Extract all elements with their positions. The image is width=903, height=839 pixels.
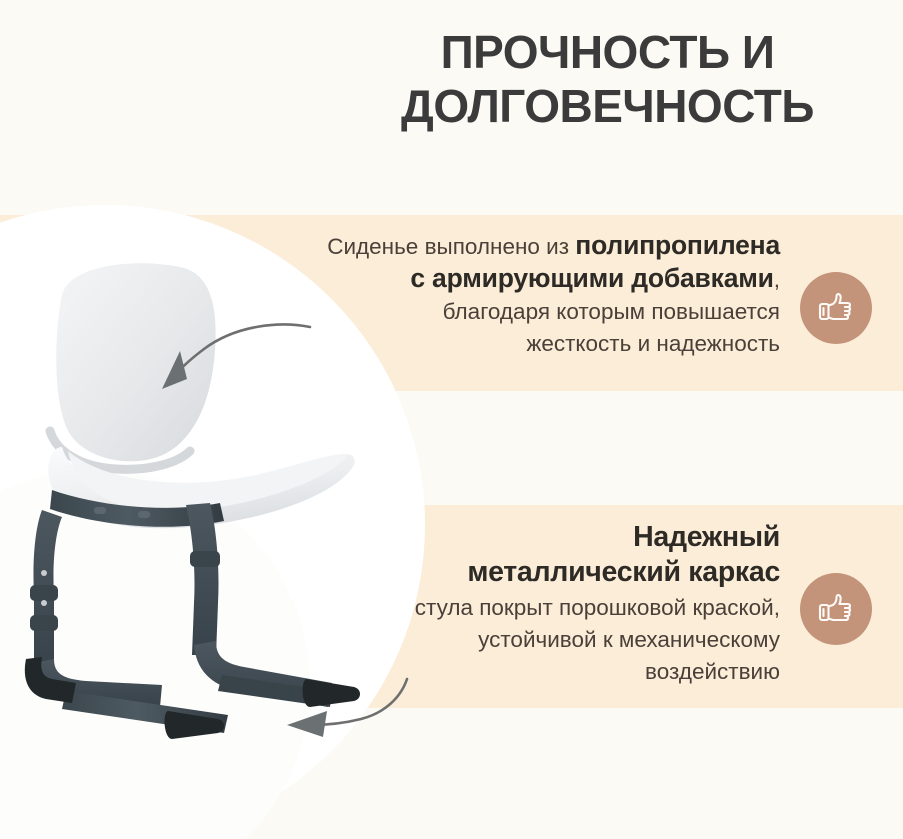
feature-one-strong-1: полипропилена [575,230,780,260]
feature-one-strong-2: с армирующими добавками [410,263,773,293]
feature-two-strong-2: металлический каркас [300,555,780,590]
thumbs-up-icon [815,287,857,329]
feature-two-tail-2: устойчивой к механическому [300,625,780,655]
infographic-page: ПРОЧНОСТЬ И ДОЛГОВЕЧНОСТЬ Сиденье выполн… [0,0,903,839]
feature-one-line-2: с армирующими добавками, [150,263,780,295]
feature-one-lead: Сиденье выполнено из [327,234,575,259]
arrow-to-frame-icon [265,655,425,750]
thumbs-up-icon [815,588,857,630]
feature-one-comma: , [774,267,780,292]
page-title-line-2: ДОЛГОВЕЧНОСТЬ [330,80,885,134]
thumbs-up-badge-top [800,272,872,344]
arrow-to-seat-icon [140,295,320,410]
feature-one-line-1: Сиденье выполнено из полипропилена [150,230,780,262]
page-title-line-1: ПРОЧНОСТЬ И [330,26,885,80]
page-title: ПРОЧНОСТЬ И ДОЛГОВЕЧНОСТЬ [330,26,885,134]
thumbs-up-badge-bottom [800,573,872,645]
feature-two-strong-1: Надежный [300,520,780,555]
feature-two-tail-1: стула покрыт порошковой краской, [300,593,780,623]
